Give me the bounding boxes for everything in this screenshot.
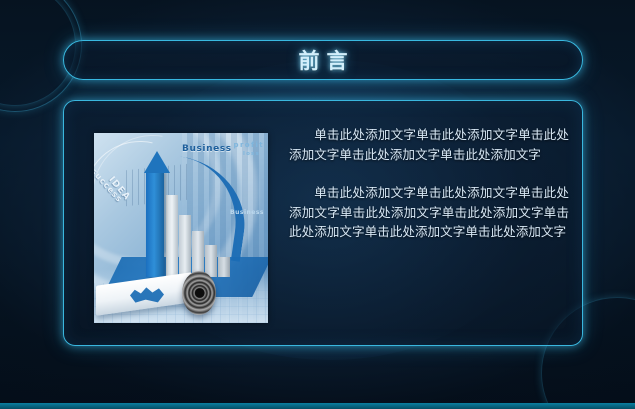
body-paragraph[interactable]: 单击此处添加文字单击此处添加文字单击此处添加文字单击此处添加文字单击此处添加文字… — [289, 183, 569, 242]
bar-blue-tall — [146, 172, 164, 277]
bar-gray-3 — [192, 231, 204, 277]
image-label-loss: loss — [243, 151, 260, 157]
image-label-business: Business — [182, 144, 232, 154]
title-banner: 前言 — [63, 40, 583, 80]
page-title: 前言 — [292, 45, 355, 75]
business-chart-image: Business profit loss Business success ID… — [94, 133, 268, 323]
content-panel: Business profit loss Business success ID… — [63, 100, 583, 346]
bottom-accent-strip — [0, 403, 635, 409]
image-label-business-small: Business — [230, 209, 264, 216]
rolled-poster-sheet — [96, 272, 192, 315]
slide-canvas: 前言 Business profit — [0, 0, 635, 409]
growth-arrow-head — [144, 151, 170, 173]
image-label-idea: IDEA — [106, 175, 132, 203]
body-text-column: 单击此处添加文字单击此处添加文字单击此处添加文字单击此处添加文字单击此处添加文字… — [289, 125, 569, 242]
rolled-poster-cylinder — [182, 271, 216, 315]
image-label-profit: profit — [234, 141, 264, 149]
city-skyline — [182, 133, 268, 323]
bar-gray-5 — [218, 257, 230, 277]
floor-gradient — [94, 269, 268, 323]
floor-grid — [94, 283, 268, 323]
body-paragraph[interactable]: 单击此处添加文字单击此处添加文字单击此处添加文字单击此处添加文字单击此处添加文字 — [289, 125, 569, 164]
poster-map-graphic — [130, 286, 164, 303]
bar-gray-1 — [166, 195, 178, 277]
bar-gray-2 — [179, 215, 191, 277]
image-label-success: success — [94, 167, 124, 204]
bar-gray-4 — [205, 245, 217, 277]
